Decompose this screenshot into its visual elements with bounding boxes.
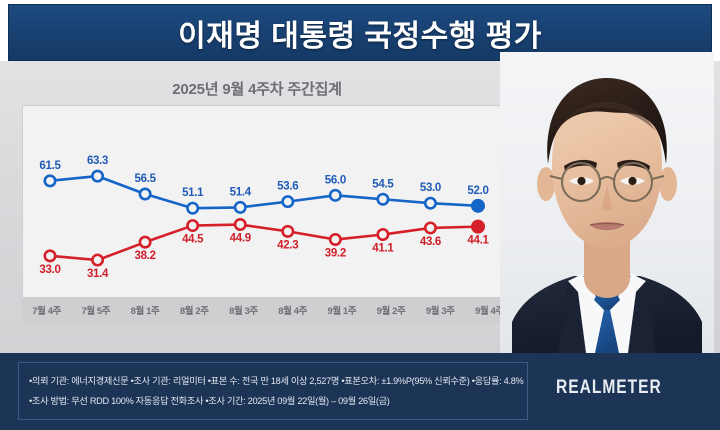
data-point-positive-0: [45, 176, 55, 186]
x-axis-tick-2: 8월 1주: [120, 303, 169, 317]
x-axis-tick-1: 7월 5주: [71, 303, 120, 317]
data-label-negative-1: 31.4: [87, 268, 109, 280]
x-axis-tick-8: 9월 3주: [416, 303, 465, 317]
data-point-positive-2: [140, 189, 150, 199]
data-label-negative-2: 38.2: [135, 250, 156, 262]
x-axis-tick-3: 8월 2주: [170, 303, 219, 317]
data-point-positive-9: [472, 200, 484, 212]
data-label-positive-2: 56.5: [135, 173, 157, 185]
president-portrait-photo: [500, 52, 714, 353]
data-label-positive-9: 52.0: [467, 185, 488, 197]
data-point-negative-8: [425, 223, 435, 233]
iris-left: [577, 177, 585, 185]
data-point-negative-0: [45, 251, 55, 261]
x-axis-tick-4: 8월 3주: [219, 303, 268, 317]
series-negative-markers: [45, 219, 484, 265]
data-label-negative-7: 41.1: [372, 243, 394, 255]
data-point-positive-5: [283, 196, 293, 206]
data-label-positive-7: 54.5: [372, 178, 394, 190]
series-positive-group: [50, 176, 478, 208]
data-label-negative-0: 33.0: [39, 264, 60, 276]
data-point-positive-8: [425, 198, 435, 208]
data-point-positive-3: [187, 203, 197, 213]
data-point-positive-4: [235, 202, 245, 212]
iris-right: [628, 177, 636, 185]
data-label-positive-8: 53.0: [420, 182, 441, 194]
data-label-negative-9: 44.1: [467, 235, 489, 247]
data-point-negative-9: [472, 220, 484, 232]
data-point-negative-6: [330, 234, 340, 244]
series-positive-line: [50, 176, 478, 208]
data-label-positive-1: 63.3: [87, 155, 108, 167]
x-axis-tick-6: 9월 1주: [317, 303, 366, 317]
series-positive-markers: [45, 171, 484, 214]
data-label-positive-4: 51.4: [230, 186, 252, 198]
data-label-negative-6: 39.2: [325, 248, 346, 260]
series-negative-line: [50, 225, 478, 261]
data-label-positive-3: 51.1: [182, 187, 204, 199]
data-point-negative-1: [92, 255, 102, 265]
data-point-positive-6: [330, 190, 340, 200]
methodology-line-1: •의뢰 기관: 에너지경제신문 •조사 기관: 리얼미터 •표본 수: 전국 만…: [29, 371, 517, 391]
data-label-negative-5: 42.3: [277, 239, 298, 251]
data-point-negative-2: [140, 237, 150, 247]
x-axis-tick-0: 7월 4주: [22, 303, 71, 317]
data-label-negative-8: 43.6: [420, 236, 441, 248]
series-positive-labels: 61.563.356.551.151.453.656.054.553.052.0: [39, 155, 488, 199]
x-axis-tick-7: 9월 2주: [366, 303, 415, 317]
data-label-negative-4: 44.9: [230, 233, 251, 245]
realmeter-logo: REALMETER: [556, 377, 662, 399]
page-title: 이재명 대통령 국정수행 평가: [178, 11, 542, 55]
data-label-positive-0: 61.5: [39, 160, 61, 172]
data-label-positive-6: 56.0: [325, 174, 346, 186]
survey-methodology-box: •의뢰 기관: 에너지경제신문 •조사 기관: 리얼미터 •표본 수: 전국 만…: [18, 362, 528, 420]
poll-result-poster: 이재명 대통령 국정수행 평가 2025년 9월 4주차 주간집계 33.031…: [0, 0, 720, 430]
data-point-negative-4: [235, 219, 245, 229]
data-point-negative-7: [378, 229, 388, 239]
data-point-positive-1: [92, 171, 102, 181]
data-point-negative-5: [283, 226, 293, 236]
data-label-positive-5: 53.6: [277, 181, 298, 193]
data-point-negative-3: [187, 220, 197, 230]
series-negative-group: [50, 225, 478, 261]
data-label-negative-3: 44.5: [182, 234, 204, 246]
portrait-illustration: [500, 52, 714, 353]
x-axis-tick-5: 8월 4주: [268, 303, 317, 317]
data-point-positive-7: [378, 194, 388, 204]
line-chart: 33.031.438.244.544.942.339.241.143.644.1…: [22, 105, 514, 297]
x-axis-labels: 7월 4주7월 5주8월 1주8월 2주8월 3주8월 4주9월 1주9월 2주…: [22, 297, 514, 323]
chart-subtitle: 2025년 9월 4주차 주간집계: [22, 78, 492, 99]
methodology-line-2: •조사 방법: 무선 RDD 100% 자동응답 전화조사 •조사 기간: 20…: [29, 391, 517, 411]
